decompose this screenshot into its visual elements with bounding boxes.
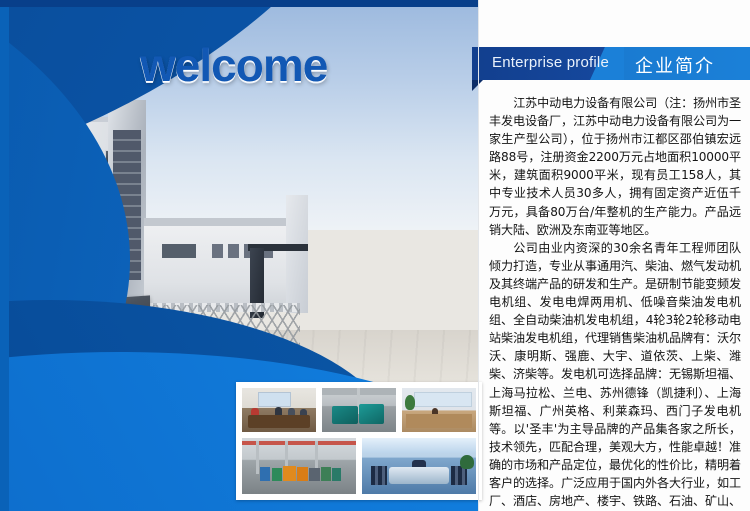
company-photo-gallery xyxy=(236,382,482,500)
distant-building xyxy=(286,195,308,313)
gallery-bottom-row xyxy=(241,437,477,495)
top-edge-navy-band xyxy=(0,0,500,7)
photo-generator-workshop xyxy=(321,387,397,433)
factory-window xyxy=(212,244,223,258)
left-image-stage: 中动电力 xyxy=(0,0,500,511)
photo-conference-room xyxy=(361,437,477,495)
gallery-top-row xyxy=(241,387,477,433)
factory-roof xyxy=(144,218,294,226)
company-profile-banner: 中动电力 xyxy=(0,0,750,511)
profile-body-text: 江苏中动电力设备有限公司（注：扬州市圣丰发电设备厂，江苏中动电力设备有限公司为一… xyxy=(489,94,741,424)
tab-chinese-label: 企业简介 xyxy=(635,52,715,78)
panel-divider xyxy=(478,0,479,511)
left-edge-blue-band xyxy=(0,0,9,511)
tab-english-label: Enterprise profile xyxy=(492,54,609,71)
photo-machine-warehouse xyxy=(241,437,357,495)
photo-office-meeting xyxy=(241,387,317,433)
factory-window xyxy=(162,244,196,258)
profile-paragraph-1: 江苏中动电力设备有限公司（注：扬州市圣丰发电设备厂，江苏中动电力设备有限公司为一… xyxy=(489,94,741,239)
welcome-headline: welcome xyxy=(140,38,327,92)
factory-window xyxy=(228,244,239,258)
photo-open-office xyxy=(401,387,477,433)
enterprise-profile-tab[interactable]: Enterprise profile 企业简介 xyxy=(472,47,750,80)
factory-hall-building xyxy=(144,218,294,310)
profile-paragraph-2: 公司由业内资深的30余名青年工程师团队倾力打造，专业从事通用汽、柴油、燃气发动机… xyxy=(489,239,741,511)
